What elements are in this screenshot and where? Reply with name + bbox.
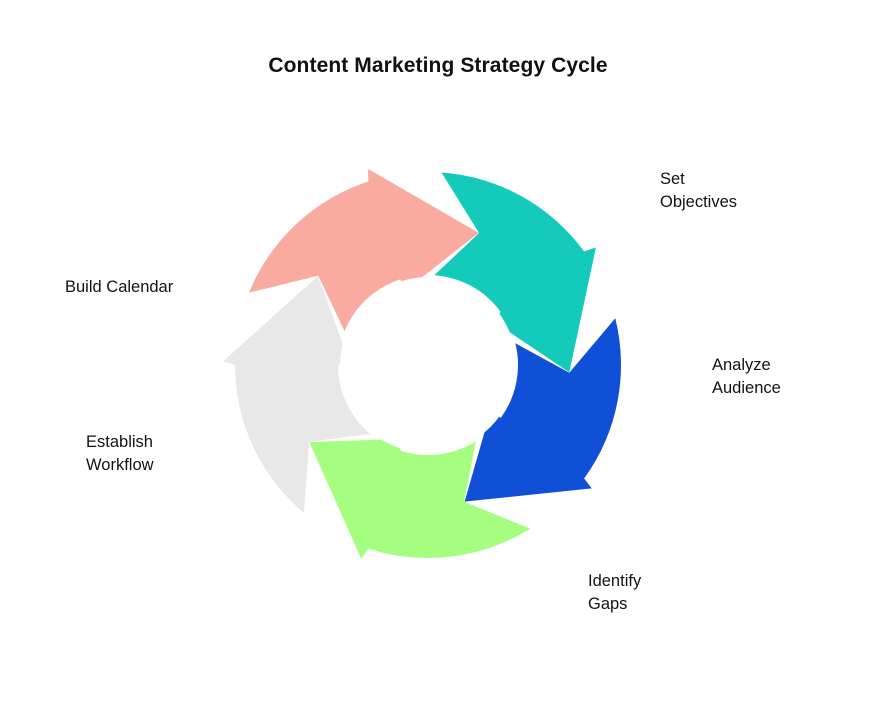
cycle-label-line: Establish xyxy=(86,431,154,454)
cycle-label-line: Audience xyxy=(712,377,781,400)
cycle-label-build-calendar: Build Calendar xyxy=(65,276,173,299)
cycle-label-line: Build Calendar xyxy=(65,276,173,299)
cycle-label-establish-workflow: EstablishWorkflow xyxy=(86,431,154,477)
cycle-label-identify-gaps: IdentifyGaps xyxy=(588,570,641,616)
cycle-label-analyze-audience: AnalyzeAudience xyxy=(712,354,781,400)
cycle-label-set-objectives: SetObjectives xyxy=(660,168,737,214)
cycle-label-line: Gaps xyxy=(588,593,641,616)
cycle-label-line: Objectives xyxy=(660,191,737,214)
cycle-segments-layer xyxy=(223,169,621,559)
cycle-label-line: Workflow xyxy=(86,454,154,477)
figure-root: Content Marketing Strategy Cycle SetObje… xyxy=(0,0,876,714)
cycle-label-line: Identify xyxy=(588,570,641,593)
cycle-center-hole xyxy=(340,277,516,453)
cycle-label-line: Set xyxy=(660,168,737,191)
cycle-label-line: Analyze xyxy=(712,354,781,377)
